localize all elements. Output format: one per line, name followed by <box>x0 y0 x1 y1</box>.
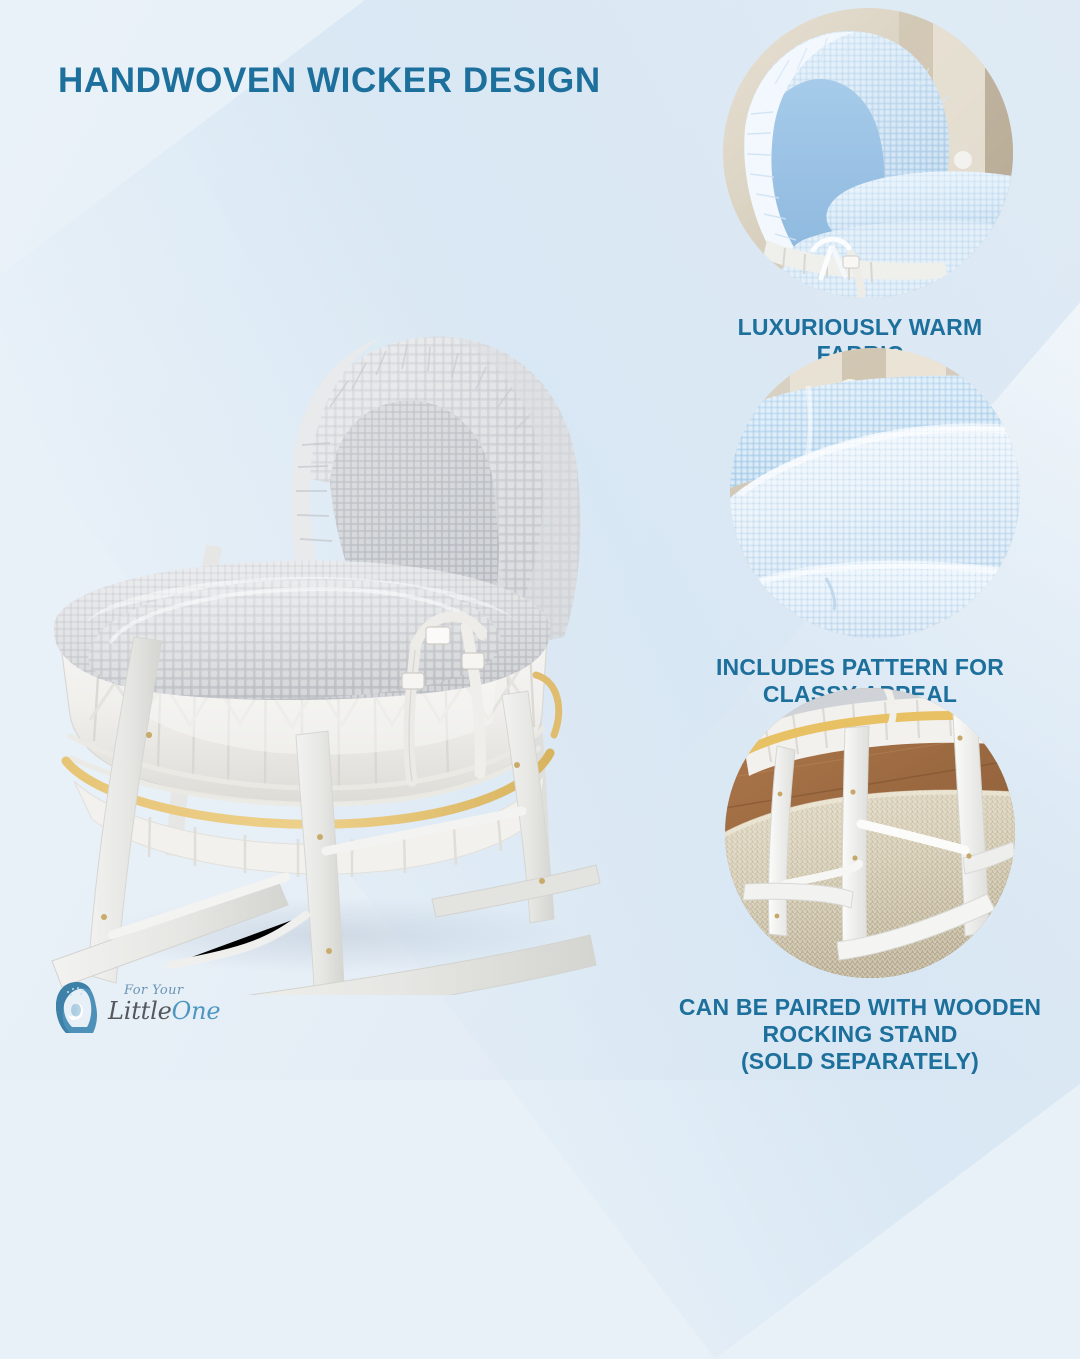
feature-2-image-wrap <box>640 348 1080 648</box>
feature-1-circle-image <box>723 8 1013 298</box>
feature-3-caption-line-3: (SOLD SEPARATELY) <box>648 1048 1072 1075</box>
feature-column: LUXURIOUSLY WARM FABRIC <box>640 0 1080 1080</box>
feature-1-caption-line-1: LUXURIOUSLY WARM <box>648 314 1072 341</box>
strap-buckle-left <box>402 673 424 689</box>
feature-1-image-wrap <box>640 8 1080 308</box>
feature-3-caption-line-2: ROCKING STAND <box>648 1021 1072 1048</box>
mother-and-baby-silhouette-icon <box>52 979 102 1035</box>
feature-3-circle-image <box>725 688 1015 978</box>
logo-line-little-one: LittleOne <box>108 997 220 1025</box>
strap-buckle-right <box>462 653 484 669</box>
feature-item-2: INCLUDES PATTERN FOR CLASSY APPEAL <box>640 348 1080 708</box>
feature-3-caption: CAN BE PAIRED WITH WOODEN ROCKING STAND … <box>640 994 1080 1075</box>
logo-line-for-your: For Your <box>124 983 184 998</box>
feature-2-circle-image <box>730 348 1020 638</box>
brand-logo-text: For Your LittleOne <box>108 979 228 1035</box>
feature-3-image-wrap <box>640 688 1080 988</box>
page-title: HANDWOVEN WICKER DESIGN <box>58 62 601 101</box>
logo-word-one: One <box>172 997 221 1025</box>
feature-item-1: LUXURIOUSLY WARM FABRIC <box>640 8 1080 368</box>
brand-logo[interactable]: For Your LittleOne <box>52 970 232 1044</box>
feature-item-3: CAN BE PAIRED WITH WOODEN ROCKING STAND … <box>640 688 1080 1075</box>
logo-word-little: Little <box>108 997 172 1025</box>
feature-2-caption-line-1: INCLUDES PATTERN FOR <box>648 654 1072 681</box>
feature-3-caption-line-1: CAN BE PAIRED WITH WOODEN <box>648 994 1072 1021</box>
hero-product-image <box>30 175 650 995</box>
